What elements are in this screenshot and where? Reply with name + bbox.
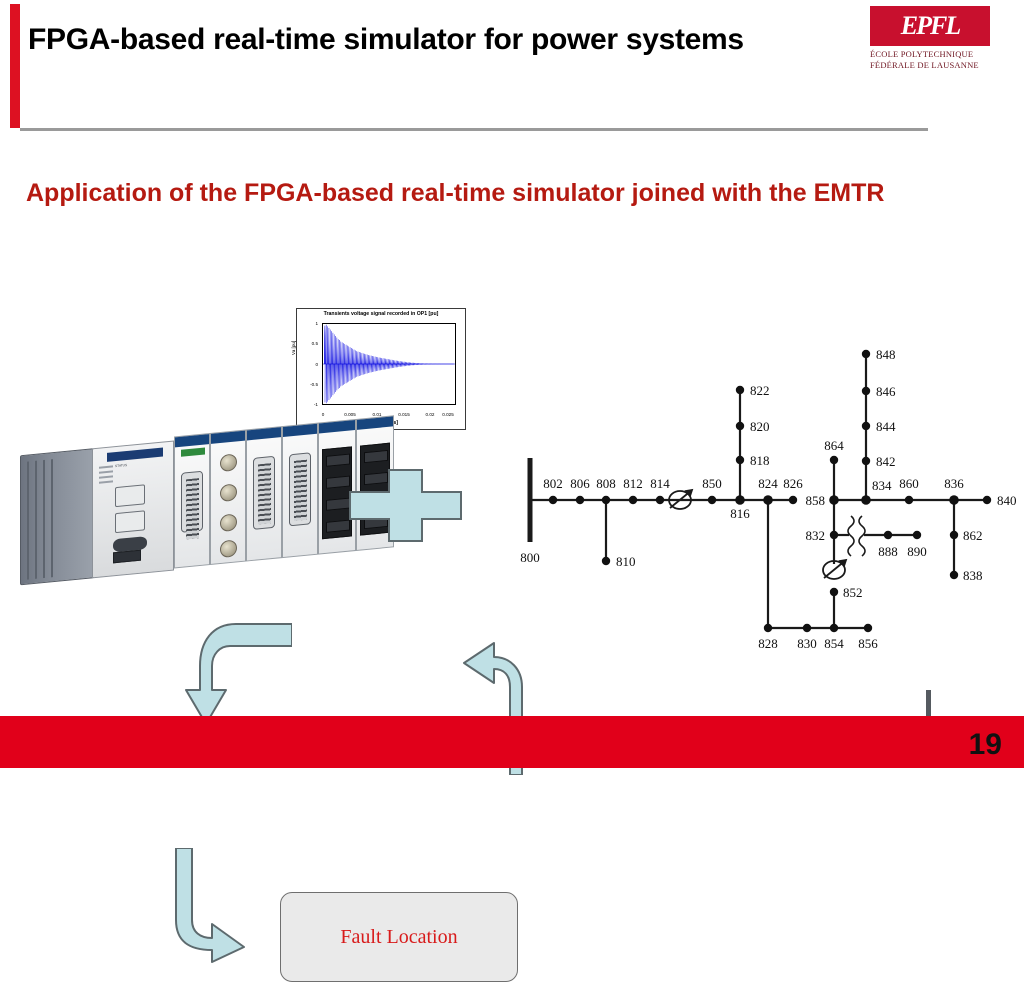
node-label-826: 826 — [783, 476, 803, 491]
node-label-862: 862 — [963, 528, 983, 543]
chart-plot-area — [322, 323, 456, 405]
node-label-858: 858 — [806, 493, 826, 508]
crio-module-4 — [282, 423, 318, 558]
header-accent-bar — [10, 4, 20, 128]
node-label-890: 890 — [907, 544, 927, 559]
crio-module-1 — [174, 433, 210, 568]
arrow-chart-to-device-icon — [182, 620, 292, 730]
node-label-816: 816 — [730, 506, 750, 521]
crio-module-2 — [210, 430, 246, 565]
slide-subtitle: Application of the FPGA-based real-time … — [26, 176, 986, 211]
node-label-842: 842 — [876, 454, 896, 469]
node-label-864: 864 — [824, 438, 844, 453]
chart-xtick-4: 0.015 — [393, 412, 415, 417]
epfl-logo-mark: EPFL — [870, 6, 990, 46]
epfl-logo-line2: FÉDÉRALE DE LAUSANNE — [870, 60, 1004, 71]
node-label-820: 820 — [750, 419, 770, 434]
node-label-844: 844 — [876, 419, 896, 434]
node-label-854: 854 — [824, 636, 844, 651]
chart-waveform — [323, 324, 455, 404]
chart-ytick-5: -1 — [300, 402, 318, 407]
node-label-852: 852 — [843, 585, 863, 600]
crio-hardware-image: STATUS — [12, 430, 342, 590]
crio-usb-port — [113, 550, 141, 564]
node-label-810: 810 — [616, 554, 636, 569]
node-label-846: 846 — [876, 384, 896, 399]
epfl-logo-wordmark: EPFL — [870, 6, 990, 46]
chart-title: Transients voltage signal recorded in OP… — [297, 311, 465, 317]
node-label-824: 824 — [758, 476, 778, 491]
fault-location-box[interactable]: Fault Location — [280, 892, 518, 982]
chart-ytick-3: 0 — [300, 362, 318, 367]
node-label-848: 848 — [876, 347, 896, 362]
crio-body: STATUS — [20, 425, 338, 586]
node-label-888: 888 — [878, 544, 898, 559]
chart-ytick-1: 1 — [300, 321, 318, 326]
node-label-806: 806 — [570, 476, 590, 491]
arrow-device-to-fault-icon — [172, 848, 297, 963]
transformer-icon — [848, 516, 865, 556]
node-label-828: 828 — [758, 636, 778, 651]
ieee-34-bus-network-diagram: 800 802 806 808 810 812 814 850 816 818 … — [500, 330, 1024, 670]
node-label-836: 836 — [944, 476, 964, 491]
ni-logo-icon — [107, 448, 163, 462]
page-number: 19 — [969, 728, 1002, 762]
node-label-822: 822 — [750, 383, 770, 398]
node-label-812: 812 — [623, 476, 643, 491]
node-label-802: 802 — [543, 476, 563, 491]
title-divider — [20, 128, 928, 131]
page-title: FPGA-based real-time simulator for power… — [28, 14, 848, 66]
chart-xtick-6: 0.025 — [437, 412, 459, 417]
node-label-840: 840 — [997, 493, 1017, 508]
node-label-850: 850 — [702, 476, 722, 491]
node-label-800: 800 — [520, 550, 540, 565]
epfl-logo: EPFL ÉCOLE POLYTECHNIQUE FÉDÉRALE DE LAU… — [870, 6, 1004, 68]
crio-chassis — [20, 448, 94, 585]
epfl-logo-subtitle: ÉCOLE POLYTECHNIQUE FÉDÉRALE DE LAUSANNE — [870, 49, 1004, 71]
chart-ytick-4: -0.5 — [300, 382, 318, 387]
node-label-818: 818 — [750, 453, 770, 468]
fault-location-label: Fault Location — [340, 926, 457, 949]
node-label-830: 830 — [797, 636, 817, 651]
chart-xtick-1: 0 — [312, 412, 334, 417]
crio-module-3 — [246, 426, 282, 561]
node-label-834: 834 — [872, 478, 892, 493]
crio-controller: STATUS — [92, 440, 174, 578]
plus-symbol-shape — [348, 468, 463, 543]
node-label-856: 856 — [858, 636, 878, 651]
transient-voltage-chart: Transients voltage signal recorded in OP… — [296, 308, 466, 430]
footer-bar — [0, 716, 1024, 768]
node-label-808: 808 — [596, 476, 616, 491]
chart-y-axis-label: Va [pu] — [291, 341, 296, 355]
node-label-814: 814 — [650, 476, 670, 491]
chart-xtick-2: 0.005 — [339, 412, 361, 417]
chart-ytick-2: 0.5 — [300, 341, 318, 346]
node-label-838: 838 — [963, 568, 983, 583]
node-label-860: 860 — [899, 476, 919, 491]
epfl-logo-line1: ÉCOLE POLYTECHNIQUE — [870, 49, 1004, 60]
node-label-832: 832 — [806, 528, 826, 543]
